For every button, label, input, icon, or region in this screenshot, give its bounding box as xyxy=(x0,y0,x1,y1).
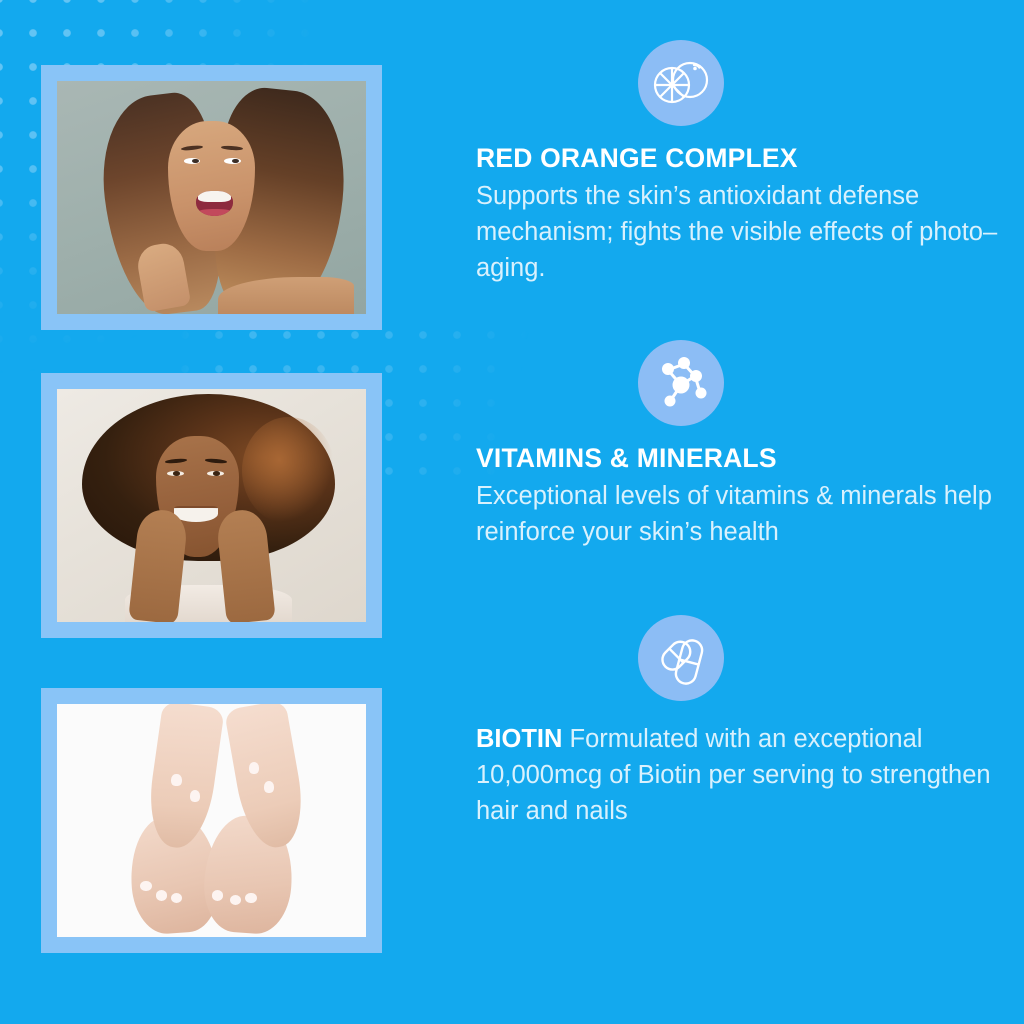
icon-background-circle xyxy=(638,615,724,701)
fingernail xyxy=(249,762,259,774)
fingernail xyxy=(190,790,200,802)
photo-frame-2 xyxy=(41,373,382,638)
toenail xyxy=(245,893,256,903)
citrus-orange-icon xyxy=(638,40,724,126)
photo-frame-3 xyxy=(41,688,382,953)
feature-block-red-orange-complex: RED ORANGE COMPLEX Supports the skin’s a… xyxy=(455,40,1024,286)
molecule-icon xyxy=(638,340,724,426)
toenail xyxy=(156,890,167,900)
feature-body: BIOTIN Formulated with an exceptional 10… xyxy=(476,721,998,830)
lower-lip xyxy=(198,209,232,216)
pupil-right xyxy=(213,471,220,476)
icon-background-circle xyxy=(638,40,724,126)
pupil-left xyxy=(173,471,180,476)
open-mouth xyxy=(196,191,233,217)
photo-woman-curly-hair xyxy=(57,389,366,622)
feature-block-vitamins-minerals: VITAMINS & MINERALS Exceptional levels o… xyxy=(455,340,1024,550)
icon-background-circle xyxy=(638,340,724,426)
toenail xyxy=(212,890,223,900)
toenail xyxy=(140,881,151,891)
feature-lead-label: BIOTIN xyxy=(476,725,562,753)
feature-body: Supports the skin’s antioxidant defense … xyxy=(476,178,998,287)
fingernail xyxy=(264,781,274,793)
hair-highlight xyxy=(242,417,335,524)
photo-frame-1 xyxy=(41,65,382,330)
photo-woman-long-hair xyxy=(57,81,366,314)
promo-infographic: RED ORANGE COMPLEX Supports the skin’s a… xyxy=(0,0,1024,1024)
feature-heading: VITAMINS & MINERALS xyxy=(476,444,1024,474)
feature-body: Exceptional levels of vitamins & mineral… xyxy=(476,478,998,550)
capsule-pills-icon xyxy=(638,615,724,701)
feature-list: RED ORANGE COMPLEX Supports the skin’s a… xyxy=(455,0,1024,1024)
photo-hands-and-feet xyxy=(57,704,366,937)
feature-heading: RED ORANGE COMPLEX xyxy=(476,144,1024,174)
feature-block-biotin: BIOTIN Formulated with an exceptional 10… xyxy=(455,615,1024,830)
hand-left xyxy=(143,704,224,852)
teeth xyxy=(198,191,231,202)
smile xyxy=(174,506,217,522)
fingernail xyxy=(171,774,181,786)
